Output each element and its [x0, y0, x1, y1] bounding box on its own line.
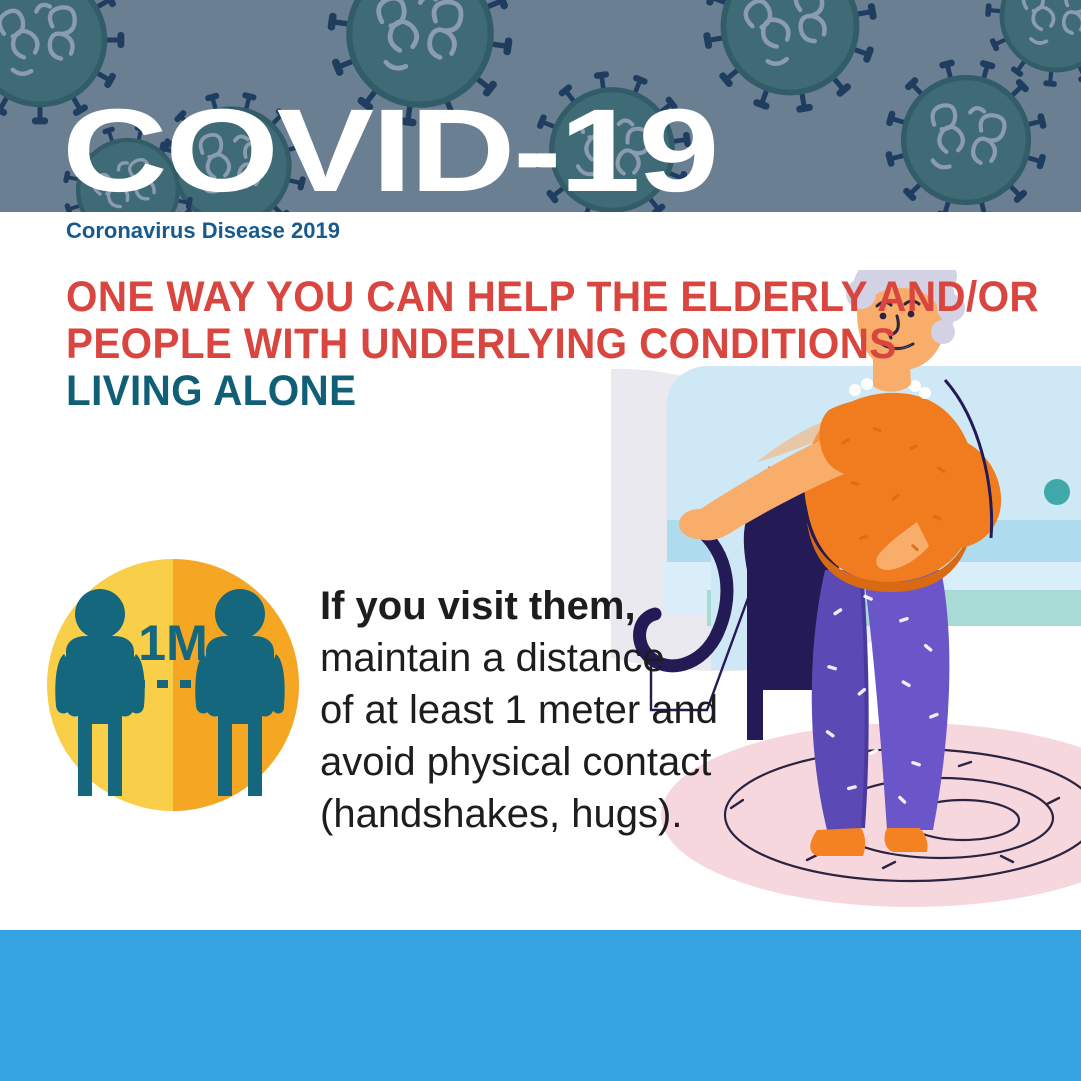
body-line-2: maintain a distance — [320, 632, 780, 684]
header-band: COVID-19 — [0, 0, 1081, 212]
accent-dot — [1044, 479, 1070, 505]
headline: ONE WAY YOU CAN HELP THE ELDERLY AND/OR … — [66, 274, 856, 415]
body-line-3: of at least 1 meter and — [320, 684, 780, 736]
social-distancing-1m-icon: 1M — [44, 556, 302, 814]
page-title: COVID-19 — [62, 92, 717, 210]
headline-line-3: LIVING ALONE — [66, 368, 809, 415]
footer-band: PAHO Pan American — [0, 930, 1081, 1081]
headline-line-1: ONE WAY YOU CAN HELP THE ELDERLY AND/OR — [66, 274, 809, 321]
body-copy: If you visit them, maintain a distance o… — [320, 580, 780, 840]
page-subtitle: Coronavirus Disease 2019 — [66, 218, 340, 244]
headline-line-2: PEOPLE WITH UNDERLYING CONDITIONS — [66, 321, 809, 368]
body-line-1: If you visit them, — [320, 580, 780, 632]
body-line-4: avoid physical contact — [320, 736, 780, 788]
covid-19-infographic-poster: COVID-19 Coronavirus Disease 2019 ONE WA… — [0, 0, 1081, 1081]
distance-label: 1M — [138, 615, 207, 671]
body-line-5: (handshakes, hugs). — [320, 788, 780, 840]
